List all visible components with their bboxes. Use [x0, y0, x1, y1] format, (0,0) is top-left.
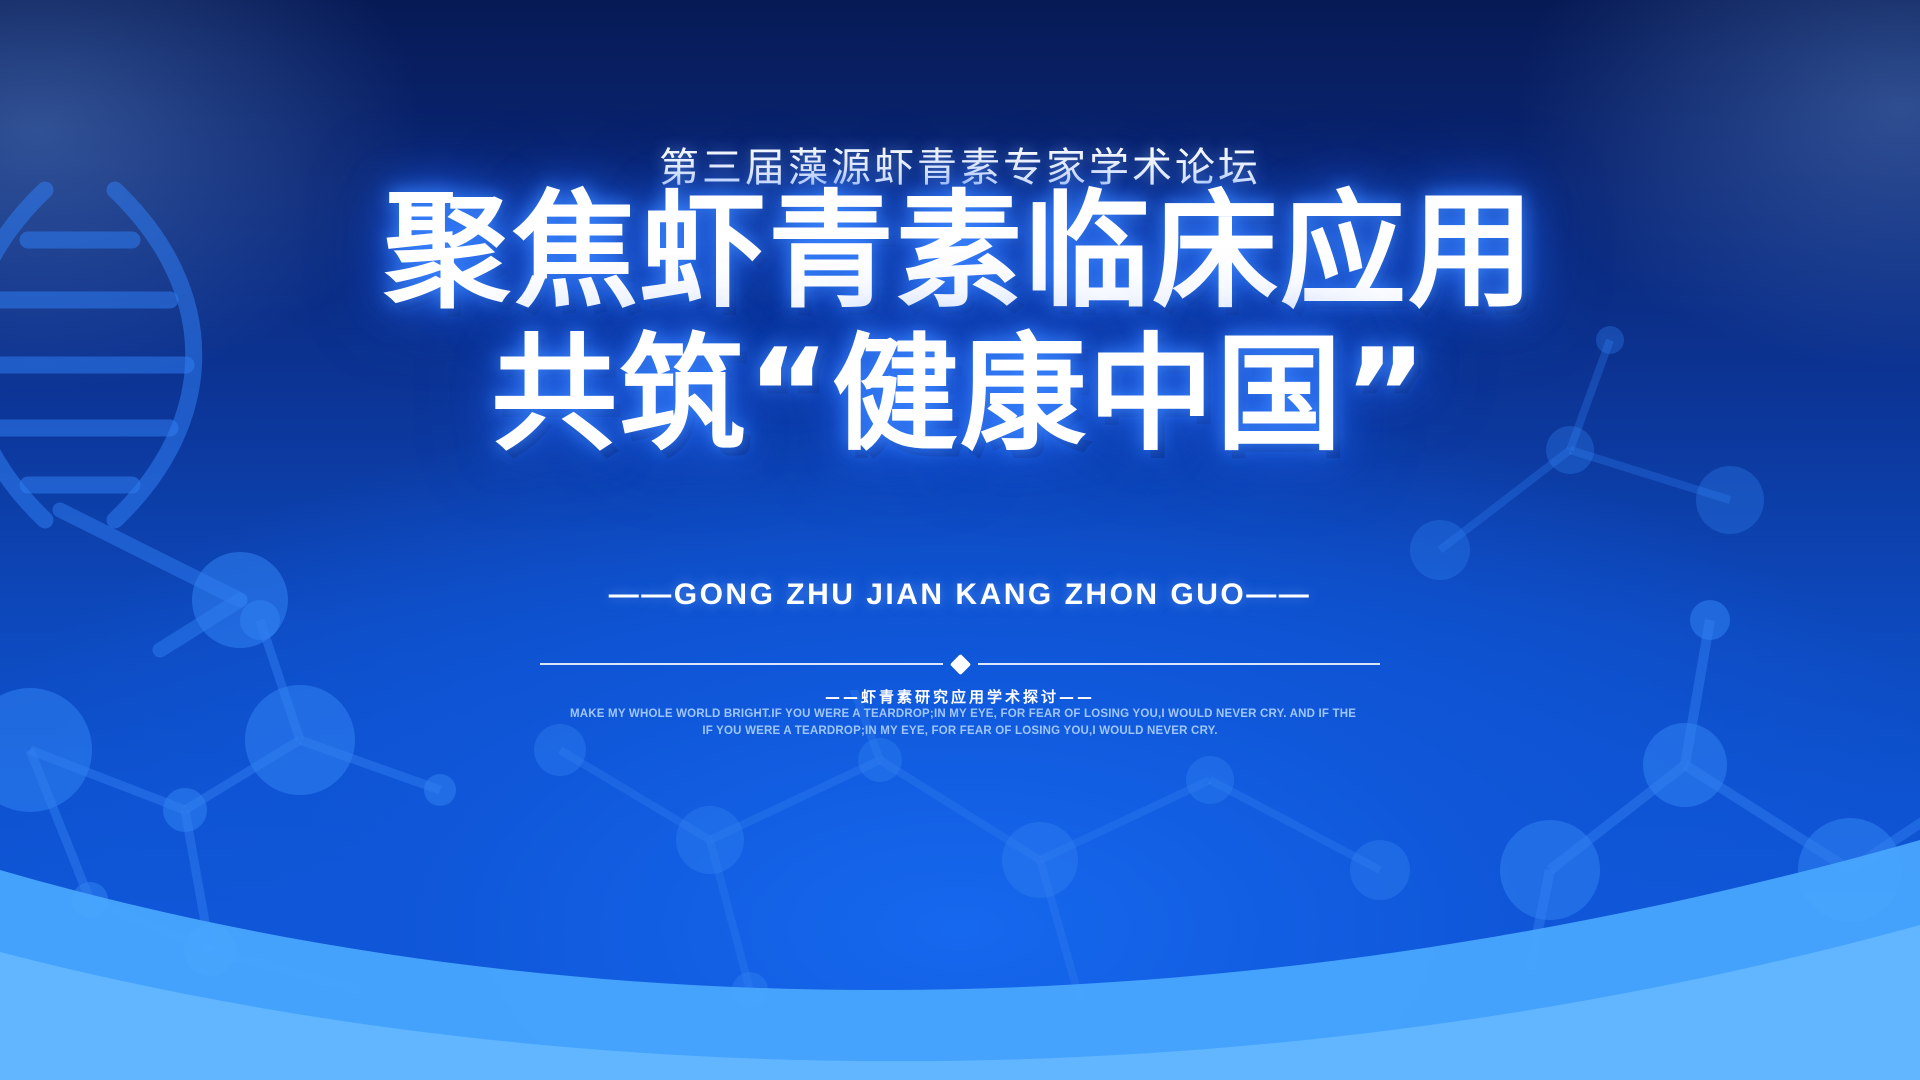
divider-bar-left: [540, 663, 943, 665]
sub-note: ——虾青素研究应用学术探讨——: [0, 686, 1920, 707]
fineprint-line-2: IF YOU WERE A TEARDROP;IN MY EYE, FOR FE…: [570, 723, 1350, 740]
title-line-2: 共筑“健康中国”: [0, 331, 1920, 460]
banner-content: 第三届藻源虾青素专家学术论坛 聚焦虾青素临床应用 共筑“健康中国” ——GONG…: [0, 0, 1920, 1080]
title-line-1: 聚焦虾青素临床应用: [0, 188, 1920, 317]
main-title-block: 聚焦虾青素临床应用 共筑“健康中国”: [0, 188, 1920, 459]
banner-stage: 第三届藻源虾青素专家学术论坛 聚焦虾青素临床应用 共筑“健康中国” ——GONG…: [0, 0, 1920, 1080]
fineprint-line-1: MAKE MY WHOLE WORLD BRIGHT.IF YOU WERE A…: [570, 706, 1350, 723]
fineprint-block: MAKE MY WHOLE WORLD BRIGHT.IF YOU WERE A…: [570, 706, 1350, 739]
diamond-icon: [949, 653, 970, 674]
pinyin-subtitle: ——GONG ZHU JIAN KANG ZHON GUO——: [0, 578, 1920, 612]
divider-bar-right: [978, 663, 1381, 665]
divider: [540, 650, 1380, 678]
